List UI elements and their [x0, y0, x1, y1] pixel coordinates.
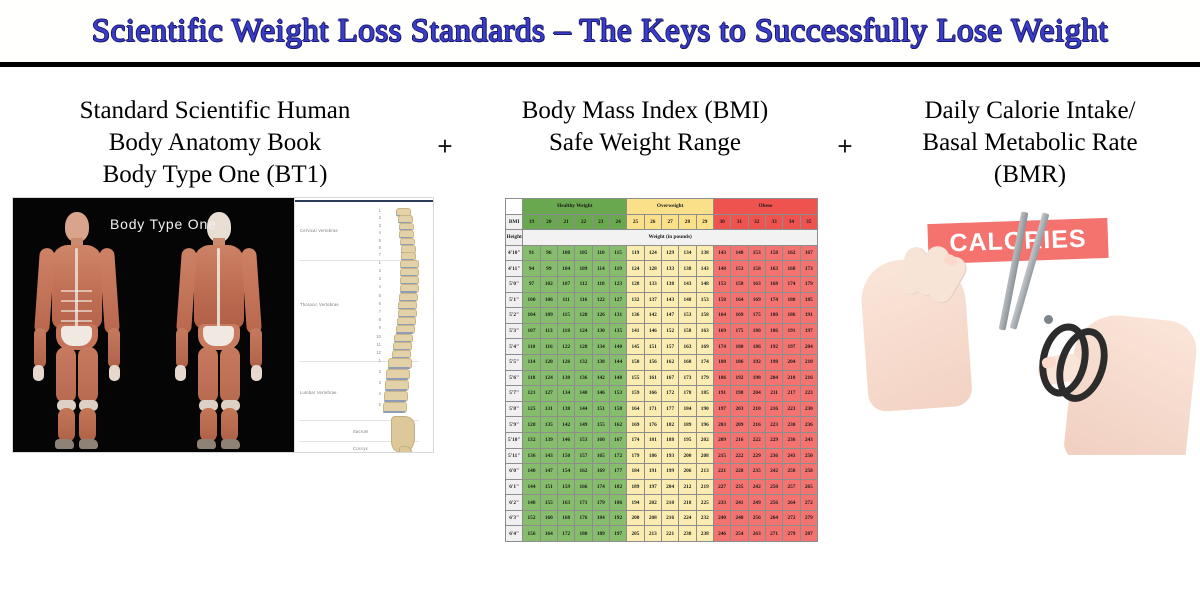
bmi-weight-cell: 155	[592, 417, 609, 433]
bmi-weight-cell: 204	[765, 370, 782, 386]
bmi-height-cell: 6'0"	[506, 464, 523, 480]
bmi-weight-cell: 148	[679, 292, 696, 308]
bmi-weight-cell: 131	[609, 308, 626, 324]
bmi-weight-cell: 130	[557, 370, 574, 386]
heading-anatomy-line-2: Body Anatomy Book	[0, 127, 430, 159]
bmi-weight-cell: 144	[523, 479, 540, 495]
bmi-weight-cell: 216	[748, 417, 765, 433]
bmi-weight-cell: 169	[627, 417, 644, 433]
vertebra-number: 2	[373, 215, 381, 220]
bmi-weight-cell: 120	[575, 308, 592, 324]
bmi-weight-cell: 163	[557, 495, 574, 511]
bmi-weight-cell: 153	[731, 261, 748, 277]
bmi-weight-cell: 173	[800, 261, 817, 277]
heading-calories-line-3: (BMR)	[860, 159, 1200, 191]
bmi-weight-cell: 118	[523, 370, 540, 386]
bmi-weight-cell: 242	[765, 464, 782, 480]
heading-calories-line-1: Daily Calorie Intake/	[860, 95, 1200, 127]
bmi-weight-cell: 164	[540, 526, 557, 542]
bmi-weight-cell: 143	[696, 261, 713, 277]
bmi-weight-cell: 164	[713, 308, 730, 324]
intervertebral-disc	[383, 411, 405, 412]
bmi-weight-cell: 129	[661, 245, 678, 261]
bmi-weight-cell: 151	[540, 479, 557, 495]
bmi-weight-cell: 130	[592, 323, 609, 339]
bmi-weight-cell: 133	[661, 261, 678, 277]
bmi-weight-cell: 265	[800, 479, 817, 495]
bmi-weight-cell: 125	[523, 401, 540, 417]
bmi-weight-cell: 167	[661, 370, 678, 386]
vertebra-number: 5	[373, 238, 381, 243]
bmi-weight-cell: 230	[783, 417, 800, 433]
bmi-weight-cell: 257	[783, 479, 800, 495]
spine-label-thoracic: Thoracic Vertebrae	[300, 302, 339, 307]
table-row: 6'1"144151159166174182189197204212219227…	[506, 479, 818, 495]
bmi-weight-cell: 146	[592, 386, 609, 402]
bmi-weight-cell: 161	[644, 370, 661, 386]
bmi-weight-cell: 182	[609, 479, 626, 495]
bmi-weight-cell: 198	[748, 370, 765, 386]
bmi-weight-cell: 160	[540, 510, 557, 526]
bmi-weight-cell: 168	[557, 510, 574, 526]
bmi-weight-cell: 158	[748, 261, 765, 277]
bmi-weight-cell: 225	[696, 495, 713, 511]
bmi-weight-cell: 197	[783, 339, 800, 355]
bmi-weight-cell: 202	[644, 495, 661, 511]
bmi-weight-cell: 197	[644, 479, 661, 495]
bmi-weight-cell: 174	[713, 339, 730, 355]
bmi-weight-cell: 211	[765, 386, 782, 402]
bmi-weight-cell: 216	[800, 370, 817, 386]
bmi-weight-cell: 163	[679, 339, 696, 355]
bmi-weight-cell: 119	[627, 245, 644, 261]
bmi-weight-cell: 213	[644, 526, 661, 542]
bmi-col-30: 30	[713, 214, 730, 230]
anatomy-figures: Body Type One	[13, 198, 294, 452]
bmi-weight-cell: 240	[713, 510, 730, 526]
bmi-weight-cell: 191	[783, 323, 800, 339]
bmi-weight-cell: 141	[627, 323, 644, 339]
bmi-weight-cell: 210	[800, 354, 817, 370]
bmi-weight-cell: 216	[765, 401, 782, 417]
bmi-weight-cell: 138	[661, 276, 678, 292]
bmi-weight-cell: 145	[627, 339, 644, 355]
bmi-weight-cell: 107	[523, 323, 540, 339]
bmi-height-cell: 5'4"	[506, 339, 523, 355]
vertebra-number: 3	[373, 276, 381, 281]
vertebra-number: 6	[373, 301, 381, 306]
bmi-col-27: 27	[661, 214, 678, 230]
bmi-weight-cell: 152	[661, 323, 678, 339]
bmi-table-body: 4'10"91961001051101151191241291341381431…	[506, 245, 818, 541]
bmi-weight-cell: 236	[783, 432, 800, 448]
bmi-weight-cell: 228	[731, 464, 748, 480]
bmi-weight-cell: 176	[644, 417, 661, 433]
bmi-weight-cell: 194	[627, 495, 644, 511]
bmi-weight-cell: 135	[540, 417, 557, 433]
bmi-weight-cell: 189	[679, 417, 696, 433]
bmi-weight-cell: 219	[696, 479, 713, 495]
column-headings-row: Standard Scientific Human Body Anatomy B…	[0, 67, 1200, 197]
bmi-weight-cell: 162	[609, 417, 626, 433]
bmi-weight-cell: 126	[557, 354, 574, 370]
bmi-number-row: BMI1920212223242526272829303132333435	[506, 214, 818, 230]
bmi-weight-cell: 144	[575, 401, 592, 417]
bmi-weight-cell: 242	[748, 479, 765, 495]
vertebra-number: 5	[373, 293, 381, 298]
bmi-weight-cell: 174	[783, 276, 800, 292]
bmi-weight-cell: 156	[523, 526, 540, 542]
bmi-weight-cell: 243	[783, 448, 800, 464]
bmi-weight-cell: 186	[609, 495, 626, 511]
bmi-weight-cell: 243	[800, 432, 817, 448]
bmi-weight-cell: 121	[523, 386, 540, 402]
bmi-weight-cell: 160	[592, 432, 609, 448]
bmi-weight-cell: 96	[540, 245, 557, 261]
bmi-category-row: Healthy Weight Overweight Obese	[506, 199, 818, 215]
bmi-weight-cell: 193	[661, 448, 678, 464]
bmi-weight-cell: 109	[540, 308, 557, 324]
bmi-weight-cell: 210	[783, 370, 800, 386]
bmi-weight-cell: 218	[679, 495, 696, 511]
bmi-weight-cell: 132	[523, 432, 540, 448]
table-row: 5'1"100106111116122127132137143148153158…	[506, 292, 818, 308]
bmi-weight-cell: 166	[575, 479, 592, 495]
vertebra-number: 12	[373, 350, 381, 355]
bmi-weight-cell: 110	[523, 339, 540, 355]
bmi-weight-cell: 159	[627, 386, 644, 402]
bmi-weight-cell: 279	[783, 526, 800, 542]
bmi-col-32: 32	[748, 214, 765, 230]
bmi-weight-cell: 163	[765, 261, 782, 277]
bmi-weight-cell: 147	[661, 308, 678, 324]
bmi-weight-cell: 126	[592, 308, 609, 324]
bmi-weight-cell: 127	[609, 292, 626, 308]
bmi-weight-cell: 180	[731, 339, 748, 355]
table-row: 5'5"114120126132138144150156162168174180…	[506, 354, 818, 370]
bmi-weight-cell: 197	[800, 323, 817, 339]
bmi-weight-cell: 205	[627, 526, 644, 542]
bmi-weight-cell: 140	[523, 464, 540, 480]
bmi-col-34: 34	[783, 214, 800, 230]
bmi-weight-cell: 171	[575, 495, 592, 511]
bmi-weight-cell: 124	[627, 261, 644, 277]
bmi-weight-cell: 180	[765, 308, 782, 324]
bmi-weight-cell: 221	[713, 464, 730, 480]
spine-label-cervical: Cervical Vertebrae	[300, 228, 338, 233]
calories-image: CALORIES	[858, 197, 1200, 455]
bmi-weight-cell: 198	[731, 386, 748, 402]
bmi-weight-cell: 200	[627, 510, 644, 526]
bmi-weight-cell: 110	[592, 245, 609, 261]
bmi-weight-cell: 209	[713, 432, 730, 448]
bmi-weight-cell: 197	[609, 526, 626, 542]
bmi-weight-cell: 155	[627, 370, 644, 386]
bmi-weight-cell: 271	[765, 526, 782, 542]
bmi-units-note: Weight (in pounds)	[523, 230, 818, 246]
bmi-weight-cell: 136	[575, 370, 592, 386]
bmi-weight-cell: 264	[765, 510, 782, 526]
bmi-col-26: 26	[644, 214, 661, 230]
bmi-weight-cell: 186	[713, 370, 730, 386]
bmi-weight-cell: 118	[557, 323, 574, 339]
vertebra-number: 4	[373, 391, 381, 396]
vertebra-number: 7	[373, 252, 381, 257]
bmi-weight-cell: 223	[800, 386, 817, 402]
bmi-weight-cell: 200	[679, 448, 696, 464]
bmi-weight-cell: 216	[731, 432, 748, 448]
bmi-corner-cell	[506, 199, 523, 215]
bmi-weight-cell: 172	[557, 526, 574, 542]
bmi-height-cell: 5'10"	[506, 432, 523, 448]
bmi-weight-cell: 191	[713, 386, 730, 402]
table-row: 6'0"140147154162169177184191199206213221…	[506, 464, 818, 480]
bmi-weight-cell: 210	[748, 401, 765, 417]
bmi-weight-cell: 186	[644, 448, 661, 464]
bmi-weight-cell: 204	[748, 386, 765, 402]
bmi-weight-cell: 279	[800, 510, 817, 526]
bmi-col-28: 28	[679, 214, 696, 230]
table-row: 5'3"107113118124130135141146152158163169…	[506, 323, 818, 339]
bmi-height-cell: 5'6"	[506, 370, 523, 386]
media-row: Body Type One	[0, 197, 1200, 587]
bmi-col-19: 19	[523, 214, 540, 230]
bmi-col-21: 21	[557, 214, 574, 230]
bmi-weight-cell: 212	[679, 479, 696, 495]
heading-calories: Daily Calorie Intake/ Basal Metabolic Ra…	[860, 95, 1200, 191]
bmi-weight-cell: 162	[575, 464, 592, 480]
bmi-weight-cell: 233	[713, 495, 730, 511]
spine-diagram: Cervical Vertebrae Thoracic Vertebrae Lu…	[294, 198, 433, 452]
bmi-weight-cell: 191	[800, 308, 817, 324]
bmi-weight-cell: 203	[713, 417, 730, 433]
bmi-weight-cell: 216	[661, 510, 678, 526]
bmi-chart: Healthy Weight Overweight Obese BMI19202…	[505, 198, 818, 542]
bmi-weight-cell: 162	[783, 245, 800, 261]
bmi-weight-cell: 142	[557, 417, 574, 433]
bmi-weight-cell: 140	[609, 339, 626, 355]
bmi-weight-cell: 134	[679, 245, 696, 261]
bmi-weight-cell: 133	[644, 276, 661, 292]
bmi-weight-cell: 100	[557, 245, 574, 261]
bmi-weight-cell: 115	[557, 308, 574, 324]
bmi-weight-cell: 217	[783, 386, 800, 402]
bmi-weight-cell: 102	[540, 276, 557, 292]
heading-anatomy: Standard Scientific Human Body Anatomy B…	[0, 95, 430, 191]
bmi-weight-cell: 174	[765, 292, 782, 308]
bmi-weight-cell: 236	[765, 448, 782, 464]
bmi-weight-cell: 250	[800, 448, 817, 464]
bmi-weight-cell: 162	[661, 354, 678, 370]
bmi-weight-cell: 172	[609, 448, 626, 464]
bmi-weight-cell: 272	[800, 495, 817, 511]
bmi-weight-cell: 153	[575, 432, 592, 448]
bmi-weight-cell: 120	[540, 354, 557, 370]
bmi-weight-cell: 189	[592, 526, 609, 542]
heading-anatomy-line-3: Body Type One (BT1)	[0, 159, 430, 191]
bmi-height-cell: 5'5"	[506, 354, 523, 370]
vertebra-number: 4	[373, 284, 381, 289]
vertebra-number: 3	[373, 380, 381, 385]
table-row: 5'8"125131138144151158164171177184190197…	[506, 401, 818, 417]
bmi-weight-cell: 196	[696, 417, 713, 433]
bmi-weight-cell: 208	[644, 510, 661, 526]
table-row: 5'2"104109115120126131136142147153158164…	[506, 308, 818, 324]
bmi-height-cell: 5'7"	[506, 386, 523, 402]
bmi-weight-cell: 167	[800, 245, 817, 261]
bmi-weight-cell: 169	[696, 339, 713, 355]
bmi-weight-cell: 106	[540, 292, 557, 308]
bmi-weight-cell: 250	[783, 464, 800, 480]
bmi-weight-cell: 222	[748, 432, 765, 448]
bmi-weight-cell: 153	[609, 386, 626, 402]
heading-bmi-line-1: Body Mass Index (BMI)	[460, 95, 830, 127]
bmi-row-header: BMI	[506, 214, 523, 230]
bmi-col-33: 33	[765, 214, 782, 230]
bmi-weight-cell: 158	[765, 245, 782, 261]
bmi-weight-cell: 119	[609, 261, 626, 277]
bmi-weight-cell: 116	[575, 292, 592, 308]
bmi-weight-cell: 184	[592, 510, 609, 526]
bmi-weight-cell: 97	[523, 276, 540, 292]
bmi-weight-cell: 157	[575, 448, 592, 464]
bmi-weight-cell: 180	[713, 354, 730, 370]
bmi-weight-cell: 248	[731, 510, 748, 526]
bmi-weight-cell: 186	[748, 339, 765, 355]
bmi-height-cell: 6'3"	[506, 510, 523, 526]
bmi-weight-cell: 148	[609, 370, 626, 386]
bmi-weight-cell: 227	[713, 479, 730, 495]
bmi-weight-cell: 109	[575, 261, 592, 277]
bmi-weight-cell: 249	[748, 495, 765, 511]
bmi-weight-cell: 184	[679, 401, 696, 417]
bmi-weight-cell: 230	[679, 526, 696, 542]
bmi-weight-cell: 155	[540, 495, 557, 511]
bmi-weight-cell: 153	[679, 308, 696, 324]
bmi-weight-cell: 171	[644, 401, 661, 417]
vertebra-number: 2	[373, 268, 381, 273]
bmi-weight-cell: 229	[748, 448, 765, 464]
bmi-weight-cell: 134	[592, 339, 609, 355]
bmi-weight-cell: 206	[679, 464, 696, 480]
bmi-weight-cell: 164	[627, 401, 644, 417]
vertebra-number: 11	[373, 342, 381, 347]
bmi-weight-cell: 235	[731, 479, 748, 495]
bmi-weight-cell: 254	[731, 526, 748, 542]
bmi-weight-cell: 287	[800, 526, 817, 542]
vertebra-number: 10	[373, 334, 381, 339]
bmi-height-cell: 5'2"	[506, 308, 523, 324]
bmi-weight-cell: 210	[661, 495, 678, 511]
bmi-weight-cell: 192	[748, 354, 765, 370]
table-row: 4'11"94991041091141191241281331381431481…	[506, 261, 818, 277]
bmi-weight-cell: 198	[765, 354, 782, 370]
bmi-weight-cell: 179	[592, 495, 609, 511]
bmi-weight-cell: 113	[540, 323, 557, 339]
bmi-col-20: 20	[540, 214, 557, 230]
vertebra-number: 1	[373, 260, 381, 265]
bmi-weight-cell: 164	[731, 292, 748, 308]
bmi-weight-cell: 153	[696, 292, 713, 308]
bmi-weight-cell: 223	[765, 417, 782, 433]
bmi-col-22: 22	[575, 214, 592, 230]
bmi-weight-cell: 169	[748, 292, 765, 308]
bmi-weight-cell: 192	[765, 339, 782, 355]
spine-label-coccyx: Coccyx	[353, 446, 368, 451]
bmi-weight-cell: 190	[696, 401, 713, 417]
bmi-weight-cell: 263	[748, 526, 765, 542]
bmi-weight-cell: 222	[731, 448, 748, 464]
bmi-weight-cell: 174	[627, 432, 644, 448]
bmi-weight-cell: 138	[557, 401, 574, 417]
bmi-weight-cell: 180	[748, 323, 765, 339]
bmi-weight-cell: 128	[627, 276, 644, 292]
bmi-weight-cell: 123	[609, 276, 626, 292]
bmi-weight-cell: 142	[592, 370, 609, 386]
bmi-weight-cell: 105	[575, 245, 592, 261]
bmi-weight-cell: 158	[713, 292, 730, 308]
bmi-weight-cell: 143	[540, 448, 557, 464]
title-banner: Scientific Weight Loss Standards – The K…	[0, 0, 1200, 62]
bmi-weight-cell: 153	[713, 276, 730, 292]
vertebra-number: 4	[373, 230, 381, 235]
bmi-weight-cell: 264	[783, 495, 800, 511]
bmi-weight-cell: 163	[696, 323, 713, 339]
bmi-weight-cell: 143	[661, 292, 678, 308]
bmi-weight-cell: 114	[523, 354, 540, 370]
bmi-weight-cell: 122	[592, 292, 609, 308]
vertebra-number: 7	[373, 309, 381, 314]
bmi-height-cell: 5'9"	[506, 417, 523, 433]
bmi-weight-cell: 189	[627, 479, 644, 495]
bmi-weight-cell: 134	[557, 386, 574, 402]
bmi-weight-cell: 188	[661, 432, 678, 448]
bmi-weight-cell: 241	[731, 495, 748, 511]
bmi-weight-cell: 136	[627, 308, 644, 324]
bmi-weight-cell: 104	[557, 261, 574, 277]
bmi-weight-cell: 122	[557, 339, 574, 355]
bmi-weight-cell: 174	[696, 354, 713, 370]
bmi-weight-cell: 91	[523, 245, 540, 261]
bmi-weight-cell: 138	[696, 245, 713, 261]
table-row: 6'3"152160168176184192200208216224232240…	[506, 510, 818, 526]
bmi-weight-cell: 158	[679, 323, 696, 339]
bmi-weight-cell: 221	[661, 526, 678, 542]
plus-separator-2: +	[830, 95, 860, 162]
bmi-weight-cell: 256	[765, 495, 782, 511]
bmi-weight-cell: 149	[575, 417, 592, 433]
bmi-weight-cell: 154	[557, 464, 574, 480]
bmi-weight-cell: 99	[540, 261, 557, 277]
bmi-weight-cell: 179	[627, 448, 644, 464]
bmi-weight-cell: 158	[609, 401, 626, 417]
bmi-weight-cell: 156	[644, 354, 661, 370]
bmi-weight-cell: 167	[609, 432, 626, 448]
scissors-pivot	[1044, 315, 1053, 324]
bmi-weight-cell: 115	[609, 245, 626, 261]
bmi-height-cell: 6'1"	[506, 479, 523, 495]
bmi-weight-cell: 272	[783, 510, 800, 526]
bmi-weight-cell: 131	[540, 401, 557, 417]
bmi-weight-cell: 135	[609, 323, 626, 339]
bmi-table-head: Healthy Weight Overweight Obese BMI19202…	[506, 199, 818, 246]
bmi-weight-cell: 192	[609, 510, 626, 526]
table-row: 5'11"13614315015716517217918619320020821…	[506, 448, 818, 464]
bmi-weight-cell: 199	[661, 464, 678, 480]
bmi-weight-cell: 132	[575, 354, 592, 370]
bmi-weight-cell: 148	[523, 495, 540, 511]
bmi-weight-cell: 202	[696, 432, 713, 448]
